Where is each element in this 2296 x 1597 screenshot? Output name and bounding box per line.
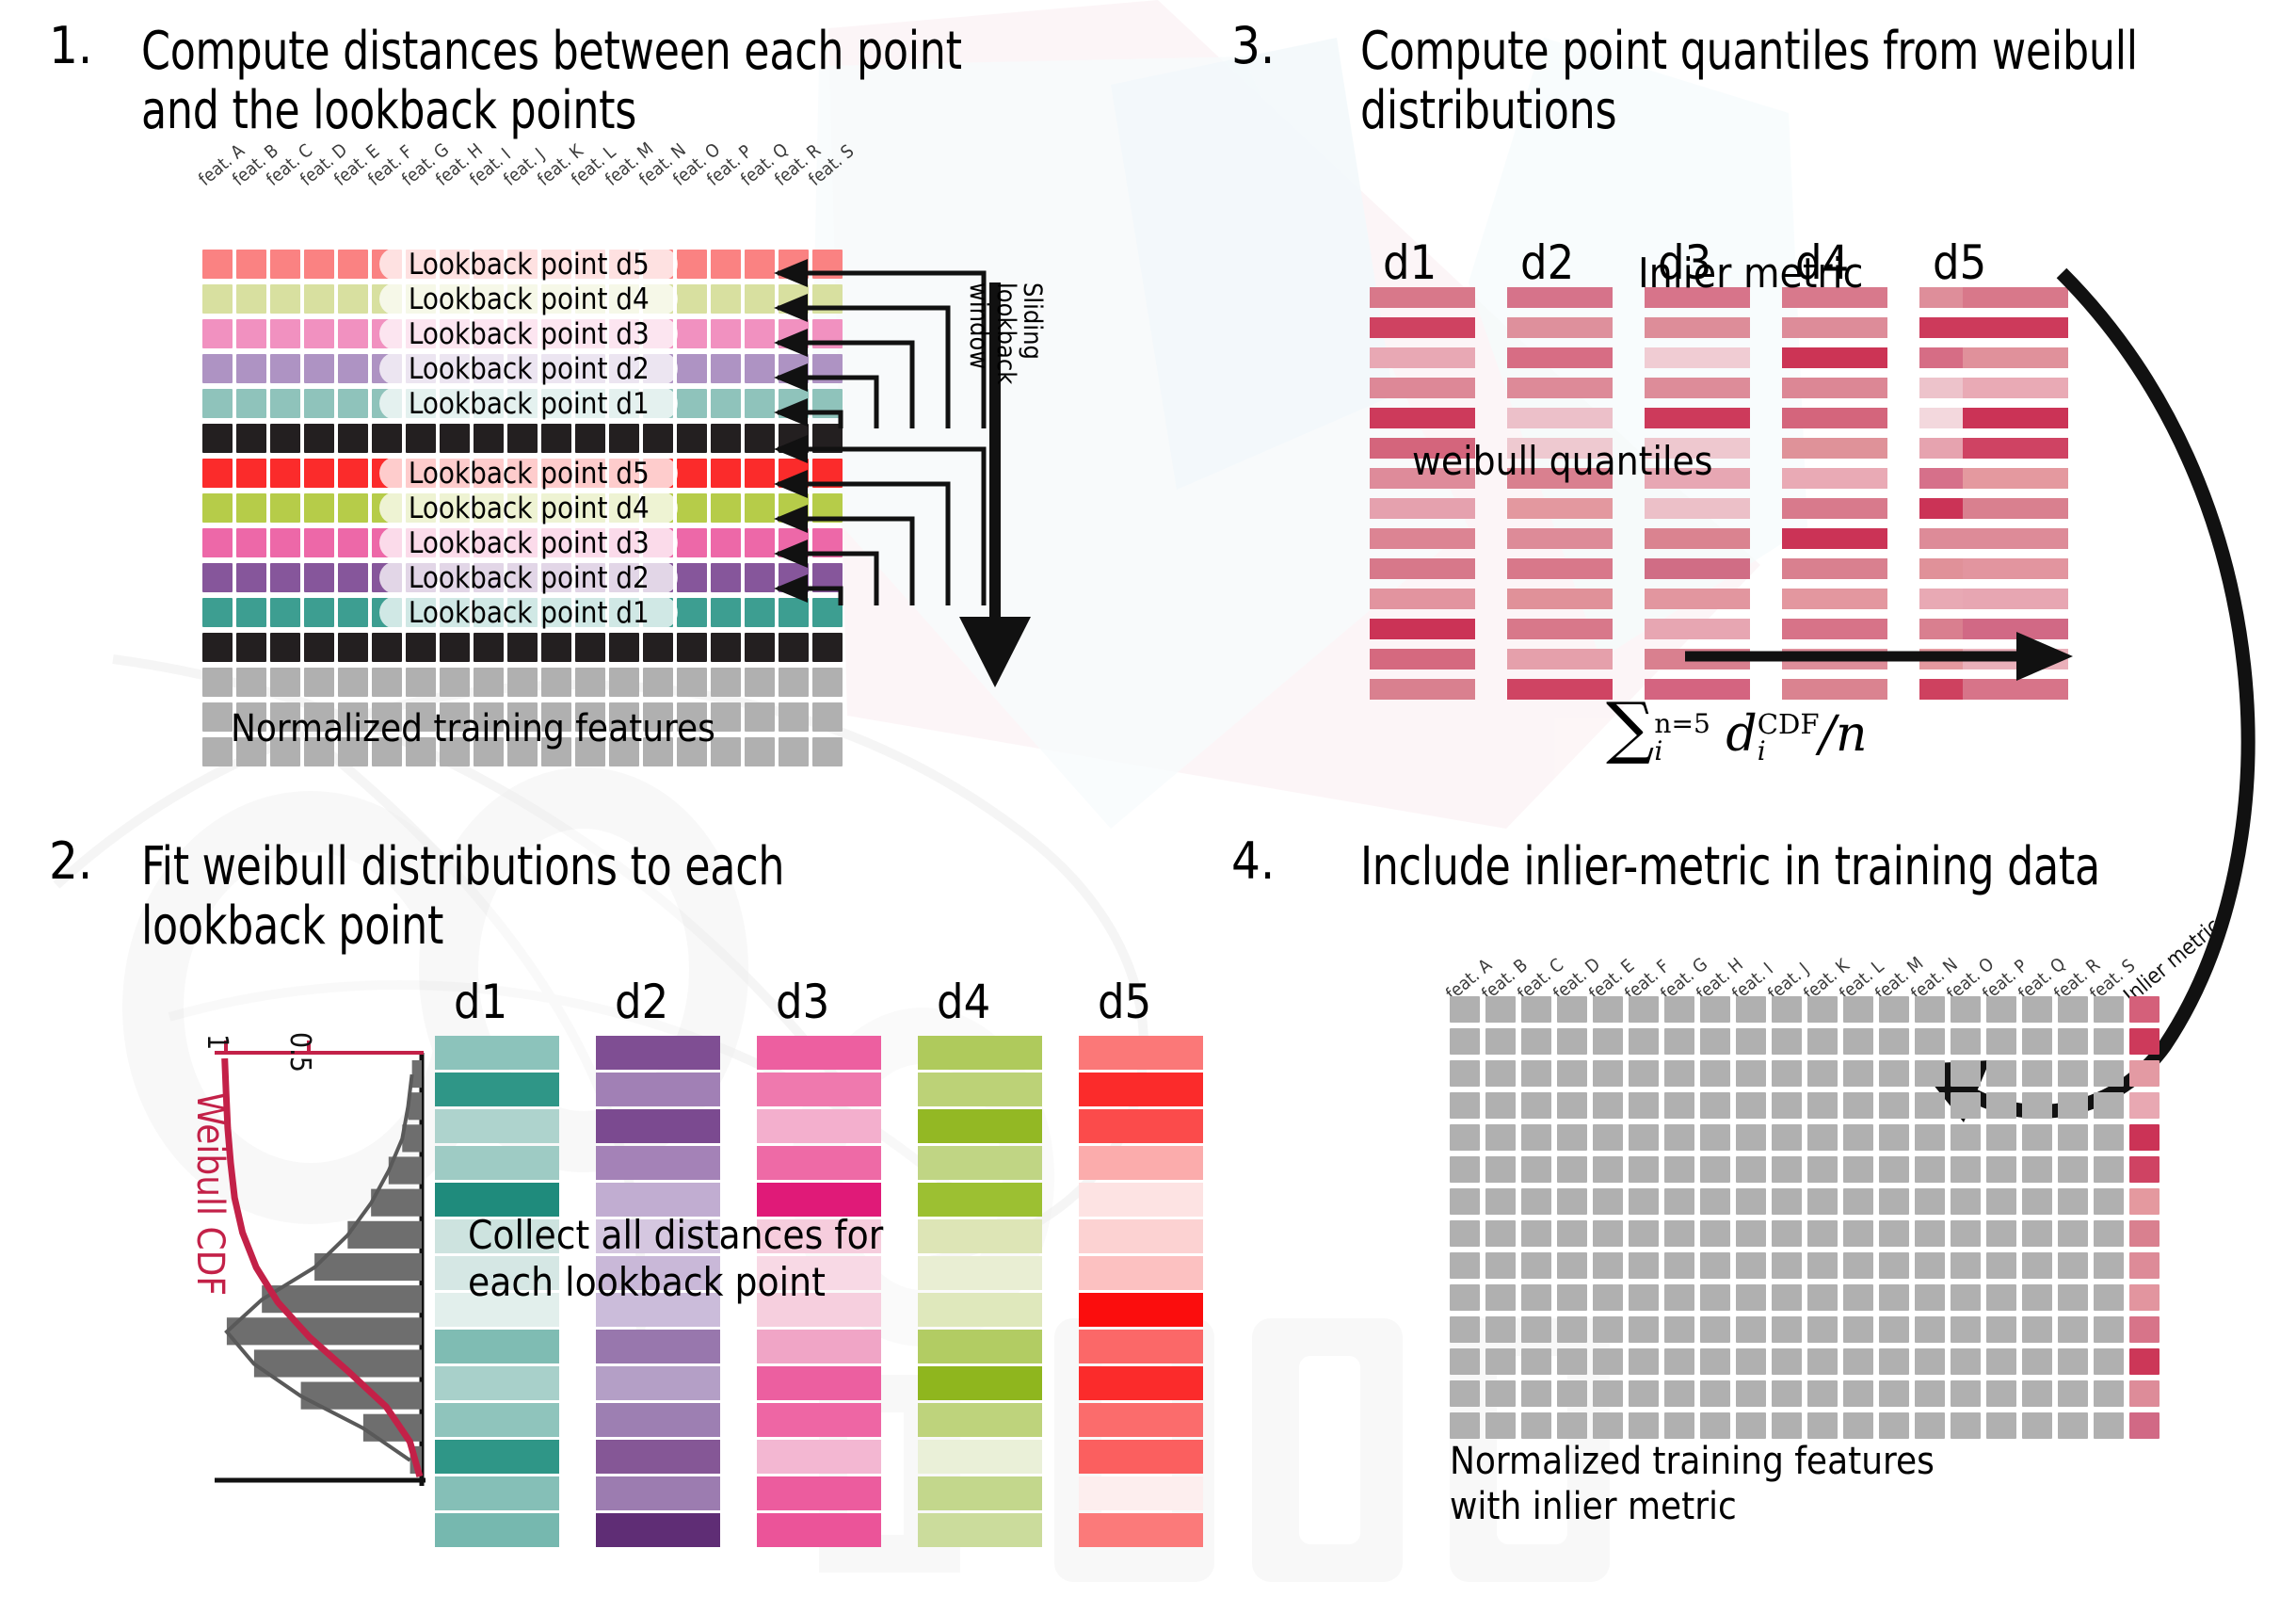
grid-cell [1736,1348,1766,1375]
grid-cell [1629,1092,1659,1119]
inlier-metric-cell [2129,1412,2160,1439]
grid-cell [1700,996,1730,1023]
grid-cell [1593,1220,1623,1247]
grid-cell [1951,1220,1981,1247]
grid-row [1450,1348,2160,1375]
grid-cell [1843,1028,1873,1055]
grid-cell [1485,1092,1516,1119]
grid-cell [1772,1412,1802,1439]
grid-cell [1485,1124,1516,1151]
grid-cell [1557,1284,1587,1311]
grid-cell [1986,1412,2016,1439]
grid-cell [1736,1124,1766,1151]
grid-cell [1843,1380,1873,1407]
grid-cell [1807,1284,1838,1311]
grid-cell [2094,1028,2124,1055]
grid-cell [1593,1316,1623,1343]
grid-cell [1772,1348,1802,1375]
grid-cell [1986,1156,2016,1183]
grid-cell [1843,1348,1873,1375]
grid-cell [1772,1092,1802,1119]
grid-cell [1664,1188,1694,1215]
grid-cell [2094,1124,2124,1151]
grid-cell [1629,1316,1659,1343]
grid-cell [2058,1252,2088,1279]
grid-cell [1915,1220,1945,1247]
grid-cell [1772,1284,1802,1311]
grid-cell [1629,1188,1659,1215]
grid-cell [1915,1156,1945,1183]
grid-cell [1879,1028,1909,1055]
grid-cell [2094,996,2124,1023]
grid-cell [1593,1188,1623,1215]
grid-cell [1843,1156,1873,1183]
grid-cell [1629,1220,1659,1247]
grid-cell [1879,1316,1909,1343]
inlier-metric-cell [2129,1188,2160,1215]
grid-cell [1664,996,1694,1023]
grid-cell [1951,1060,1981,1087]
panel-4-number: 4. [1231,836,1275,887]
grid-cell [1629,1412,1659,1439]
grid-cell [1951,1412,1981,1439]
grid-cell [1951,996,1981,1023]
grid-cell [1879,996,1909,1023]
grid-cell [1986,1220,2016,1247]
grid-cell [1951,1092,1981,1119]
grid-cell [1879,1380,1909,1407]
grid-cell [1772,996,1802,1023]
grid-cell [1557,1124,1587,1151]
grid-cell [1736,1412,1766,1439]
grid-cell [1450,1028,1480,1055]
grid-cell [2022,1348,2052,1375]
grid-cell [2058,996,2088,1023]
grid-cell [1557,1220,1587,1247]
grid-cell [1915,996,1945,1023]
grid-cell [2094,1316,2124,1343]
grid-cell [1700,1412,1730,1439]
grid-cell [1807,1156,1838,1183]
grid-cell [2094,1284,2124,1311]
grid-cell [1664,1316,1694,1343]
grid-cell [1879,1412,1909,1439]
grid-cell [1986,1124,2016,1151]
grid-cell [1557,1348,1587,1375]
grid-cell [1664,1124,1694,1151]
grid-cell [1450,1188,1480,1215]
grid-row [1450,1284,2160,1311]
grid-cell [2022,1316,2052,1343]
grid-cell [2058,1380,2088,1407]
grid-cell [1951,1284,1981,1311]
grid-cell [1485,1380,1516,1407]
grid-cell [2058,1060,2088,1087]
grid-cell [1557,1316,1587,1343]
grid-cell [2058,1412,2088,1439]
grid-cell [1593,1156,1623,1183]
grid-cell [1450,996,1480,1023]
grid-cell [1879,1060,1909,1087]
grid-cell [1986,1348,2016,1375]
grid-cell [1521,1316,1551,1343]
grid-cell [1485,1252,1516,1279]
grid-cell [2022,1188,2052,1215]
grid-cell [1915,1060,1945,1087]
grid-cell [1772,1188,1802,1215]
grid-cell [1664,1220,1694,1247]
grid-cell [1521,1028,1551,1055]
grid-cell [1772,1316,1802,1343]
grid-cell [1736,1188,1766,1215]
grid-cell [1629,1156,1659,1183]
grid-cell [1951,1316,1981,1343]
grid-cell [1843,996,1873,1023]
grid-cell [1557,1412,1587,1439]
grid-cell [1450,1348,1480,1375]
grid-cell [1736,1156,1766,1183]
inlier-metric-cell [2129,1284,2160,1311]
grid-cell [1700,1092,1730,1119]
grid-cell [1664,1060,1694,1087]
grid-cell [2094,1060,2124,1087]
inlier-metric-cell [2129,1060,2160,1087]
grid-cell [1879,1348,1909,1375]
grid-cell [1521,996,1551,1023]
grid-cell [1485,996,1516,1023]
grid-cell [1879,1220,1909,1247]
grid-cell [1593,1028,1623,1055]
grid-cell [1951,1028,1981,1055]
grid-cell [1915,1092,1945,1119]
grid-cell [1843,1188,1873,1215]
grid-cell [2094,1348,2124,1375]
grid-cell [1700,1348,1730,1375]
grid-cell [1629,1284,1659,1311]
grid-cell [1843,1284,1873,1311]
grid-cell [1521,1156,1551,1183]
grid-cell [1915,1316,1945,1343]
inlier-metric-cell [2129,1316,2160,1343]
grid-cell [1807,1380,1838,1407]
grid-cell [1772,1380,1802,1407]
grid-cell [1807,1252,1838,1279]
grid-cell [1951,1156,1981,1183]
grid-cell [1736,1284,1766,1311]
inlier-metric-cell [2129,1220,2160,1247]
grid-cell [1772,1028,1802,1055]
grid-cell [1807,1060,1838,1087]
grid-cell [1664,1156,1694,1183]
grid-cell [1843,1412,1873,1439]
grid-cell [1986,1092,2016,1119]
grid-cell [1557,1092,1587,1119]
panel-4-caption: Normalized training features with inlier… [1450,1439,1935,1529]
grid-cell [1629,1348,1659,1375]
grid-cell [1593,1252,1623,1279]
grid-cell [1807,1412,1838,1439]
grid-cell [1879,1156,1909,1183]
grid-cell [1951,1188,1981,1215]
grid-cell [1593,1380,1623,1407]
grid-cell [1521,1188,1551,1215]
grid-cell [1450,1124,1480,1151]
grid-cell [1915,1028,1945,1055]
inlier-metric-cell [2129,1380,2160,1407]
grid-row [1450,1188,2160,1215]
grid-cell [1485,1220,1516,1247]
grid-cell [1986,1316,2016,1343]
grid-cell [1521,1252,1551,1279]
grid-cell [1629,1028,1659,1055]
grid-cell [1664,1028,1694,1055]
grid-cell [1485,1348,1516,1375]
grid-cell [1736,1316,1766,1343]
grid-cell [1700,1252,1730,1279]
grid-cell [1485,1156,1516,1183]
grid-cell [1879,1284,1909,1311]
grid-cell [2058,1188,2088,1215]
grid-cell [1521,1380,1551,1407]
grid-cell [1879,1252,1909,1279]
grid-cell [1557,1028,1587,1055]
grid-cell [1736,1092,1766,1119]
grid-cell [2058,1220,2088,1247]
grid-cell [1664,1284,1694,1311]
grid-cell [1986,1252,2016,1279]
grid-cell [1629,1252,1659,1279]
grid-cell [1557,1060,1587,1087]
grid-cell [1986,1284,2016,1311]
grid-cell [1664,1252,1694,1279]
grid-cell [1951,1124,1981,1151]
grid-cell [1485,1060,1516,1087]
grid-cell [1736,1380,1766,1407]
grid-cell [1450,1412,1480,1439]
grid-cell [1629,996,1659,1023]
grid-cell [1450,1060,1480,1087]
grid-cell [1664,1348,1694,1375]
grid-cell [1772,1124,1802,1151]
grid-cell [1986,1060,2016,1087]
grid-cell [1557,996,1587,1023]
grid-cell [1521,1348,1551,1375]
grid-cell [1450,1316,1480,1343]
grid-cell [2094,1412,2124,1439]
grid-cell [1772,1220,1802,1247]
grid-cell [1485,1028,1516,1055]
grid-cell [1951,1348,1981,1375]
grid-cell [1879,1188,1909,1215]
grid-cell [2058,1124,2088,1151]
grid-cell [1593,1060,1623,1087]
grid-cell [1843,1060,1873,1087]
grid-cell [1521,1220,1551,1247]
grid-cell [1629,1124,1659,1151]
grid-cell [1664,1380,1694,1407]
grid-cell [1915,1284,1945,1311]
inlier-metric-cell [2129,1124,2160,1151]
inlier-metric-cell [2129,1348,2160,1375]
grid-cell [1772,1060,1802,1087]
grid-cell [1700,1284,1730,1311]
grid-cell [1736,1060,1766,1087]
grid-cell [1485,1316,1516,1343]
grid-row [1450,1220,2160,1247]
grid-cell [1700,1156,1730,1183]
grid-cell [1450,1220,1480,1247]
grid-cell [1557,1188,1587,1215]
grid-cell [1772,1252,1802,1279]
grid-row [1450,1092,2160,1119]
grid-cell [1807,1220,1838,1247]
grid-cell [2022,1060,2052,1087]
grid-cell [2094,1188,2124,1215]
grid-cell [1700,1220,1730,1247]
grid-cell [1700,1060,1730,1087]
grid-row [1450,996,2160,1023]
grid-cell [1700,1028,1730,1055]
grid-cell [2022,996,2052,1023]
grid-cell [2022,1028,2052,1055]
grid-cell [1879,1124,1909,1151]
grid-cell [1843,1124,1873,1151]
grid-cell [1593,996,1623,1023]
figure-root: 1. Compute distances between each point … [0,0,2296,1597]
grid-row [1450,1252,2160,1279]
grid-cell [1664,1092,1694,1119]
inlier-metric-cell [2129,1252,2160,1279]
grid-cell [2058,1156,2088,1183]
grid-cell [1807,1092,1838,1119]
grid-cell [2058,1284,2088,1311]
grid-cell [1450,1380,1480,1407]
grid-cell [1593,1348,1623,1375]
grid-cell [1986,1028,2016,1055]
grid-row [1450,1028,2160,1055]
grid-cell [1700,1380,1730,1407]
grid-cell [1843,1252,1873,1279]
grid-cell [2058,1092,2088,1119]
grid-cell [2022,1412,2052,1439]
grid-cell [1915,1124,1945,1151]
grid-cell [1807,1188,1838,1215]
grid-cell [1450,1284,1480,1311]
grid-cell [2094,1092,2124,1119]
grid-row [1450,1060,2160,1087]
grid-cell [2094,1156,2124,1183]
grid-cell [1450,1156,1480,1183]
grid-cell [1915,1348,1945,1375]
grid-cell [1736,1252,1766,1279]
grid-row [1450,1156,2160,1183]
grid-cell [1700,1316,1730,1343]
grid-cell [2022,1380,2052,1407]
grid-cell [1557,1156,1587,1183]
grid-cell [1521,1284,1551,1311]
grid-cell [2022,1252,2052,1279]
grid-cell [1807,996,1838,1023]
grid-cell [1986,1380,2016,1407]
grid-cell [2022,1124,2052,1151]
grid-cell [1521,1092,1551,1119]
inlier-metric-cell [2129,1156,2160,1183]
grid-cell [1629,1060,1659,1087]
grid-cell [1843,1316,1873,1343]
grid-cell [1807,1028,1838,1055]
grid-cell [1736,1028,1766,1055]
grid-cell [1879,1092,1909,1119]
grid-cell [1772,1156,1802,1183]
grid-cell [1915,1188,1945,1215]
grid-cell [1986,996,2016,1023]
grid-cell [2094,1380,2124,1407]
grid-cell [1986,1188,2016,1215]
grid-cell [2022,1284,2052,1311]
grid-cell [1485,1412,1516,1439]
inlier-metric-cell [2129,996,2160,1023]
grid-cell [1593,1092,1623,1119]
grid-cell [1521,1412,1551,1439]
grid-cell [1557,1380,1587,1407]
grid-cell [1843,1092,1873,1119]
grid-cell [2058,1028,2088,1055]
grid-cell [1915,1412,1945,1439]
grid-row [1450,1412,2160,1439]
grid-cell [1557,1252,1587,1279]
grid-cell [1593,1124,1623,1151]
grid-cell [1736,996,1766,1023]
grid-cell [1843,1220,1873,1247]
grid-row [1450,1380,2160,1407]
grid-cell [1450,1092,1480,1119]
grid-cell [1736,1220,1766,1247]
grid-cell [1700,1124,1730,1151]
grid-cell [2058,1348,2088,1375]
grid-row [1450,1316,2160,1343]
grid-cell [1915,1380,1945,1407]
grid-cell [1485,1284,1516,1311]
grid-cell [1951,1252,1981,1279]
grid-cell [2022,1220,2052,1247]
grid-cell [1629,1380,1659,1407]
grid-cell [1951,1380,1981,1407]
grid-row [1450,1124,2160,1151]
grid-cell [1700,1188,1730,1215]
grid-cell [1807,1348,1838,1375]
grid-cell [1807,1316,1838,1343]
panel-4-title: Include inlier-metric in training data [1360,838,2189,897]
grid-cell [1485,1188,1516,1215]
grid-cell [1521,1060,1551,1087]
grid-cell [2058,1316,2088,1343]
grid-cell [1593,1284,1623,1311]
grid-cell [2094,1252,2124,1279]
grid-cell [1450,1252,1480,1279]
grid-cell [2094,1220,2124,1247]
grid-cell [2022,1092,2052,1119]
grid-cell [1915,1252,1945,1279]
grid-cell [2022,1156,2052,1183]
grid-cell [1593,1412,1623,1439]
inlier-metric-cell [2129,1028,2160,1055]
inlier-metric-cell [2129,1092,2160,1119]
grid-cell [1664,1412,1694,1439]
grid-cell [1807,1124,1838,1151]
grid-cell [1521,1124,1551,1151]
